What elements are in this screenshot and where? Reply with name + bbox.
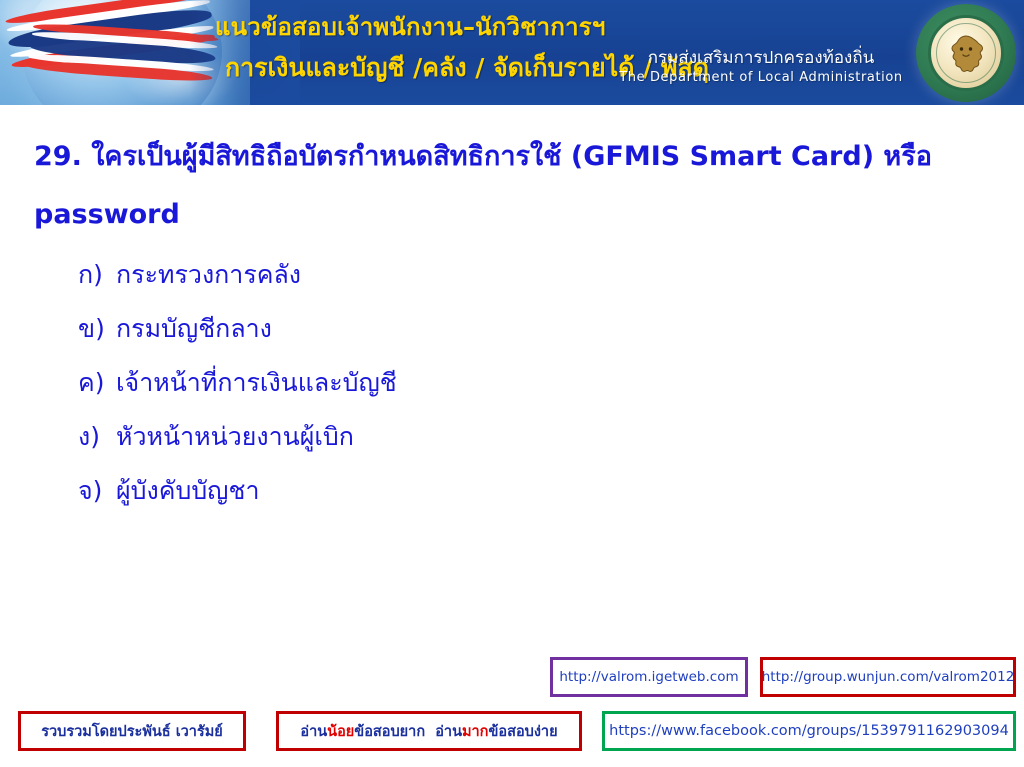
- choice-item-1[interactable]: ก)กระทรวงการคลัง: [78, 248, 878, 302]
- banner-title-line1: แนวข้อสอบเจ้าพนักงาน–นักวิชาการฯ: [215, 10, 905, 44]
- choice-item-5[interactable]: จ)ผู้บังคับบัญชา: [78, 464, 878, 518]
- header-banner: แนวข้อสอบเจ้าพนักงาน–นักวิชาการฯ การเงิน…: [0, 0, 1024, 105]
- choice-label-4: หัวหน้าหน่วยงานผู้เบิก: [116, 422, 354, 451]
- author-credit-box: รวบรวมโดยประพันธ์ เวารัมย์: [18, 711, 246, 751]
- choice-label-1: กระทรวงการคลัง: [116, 260, 301, 289]
- department-name-group: กรมส่งเสริมการปกครองท้องถิ่น The Departm…: [616, 48, 906, 86]
- department-name-thai: กรมส่งเสริมการปกครองท้องถิ่น: [616, 48, 906, 69]
- choice-letter-3: ค): [78, 356, 116, 410]
- motto-part-3: ข้อสอบยาก: [354, 720, 425, 743]
- wunjun-link-box[interactable]: http://group.wunjun.com/valrom2012: [760, 657, 1016, 697]
- choice-letter-4: ง): [78, 410, 116, 464]
- choice-label-5: ผู้บังคับบัญชา: [116, 476, 260, 505]
- choice-item-4[interactable]: ง)หัวหน้าหน่วยงานผู้เบิก: [78, 410, 878, 464]
- motto-box: อ่านน้อยข้อสอบยาก อ่านมากข้อสอบง่าย: [276, 711, 582, 751]
- choice-letter-1: ก): [78, 248, 116, 302]
- emblem-inner-disc: [928, 15, 1004, 91]
- dla-seal-emblem-icon: [916, 4, 1016, 102]
- choice-item-2[interactable]: ข)กรมบัญชีกลาง: [78, 302, 878, 356]
- choice-letter-5: จ): [78, 464, 116, 518]
- choice-list: ก)กระทรวงการคลัง ข)กรมบัญชีกลาง ค)เจ้าหน…: [78, 248, 878, 518]
- choice-letter-2: ข): [78, 302, 116, 356]
- motto-part-6: ข้อสอบง่าย: [488, 720, 557, 743]
- question-text: 29. ใครเป็นผู้มีสิทธิถือบัตรกำหนดสิทธิกา…: [34, 128, 986, 244]
- wunjun-link-text: http://group.wunjun.com/valrom2012: [762, 669, 1015, 685]
- author-credit-text: รวบรวมโดยประพันธ์ เวารัมย์: [41, 720, 223, 743]
- motto-part-1: อ่าน: [300, 720, 327, 743]
- choice-label-3: เจ้าหน้าที่การเงินและบัญชี: [116, 368, 397, 397]
- motto-part-2: น้อย: [327, 720, 354, 743]
- emblem-ring: [936, 23, 996, 83]
- igetweb-link-box[interactable]: http://valrom.igetweb.com: [550, 657, 748, 697]
- igetweb-link-text: http://valrom.igetweb.com: [559, 669, 738, 685]
- choice-label-2: กรมบัญชีกลาง: [116, 314, 272, 343]
- department-name-english: The Department of Local Administration: [616, 69, 906, 86]
- facebook-link-text: https://www.facebook.com/groups/15397911…: [609, 723, 1009, 739]
- facebook-link-box[interactable]: https://www.facebook.com/groups/15397911…: [602, 711, 1016, 751]
- motto-part-4: อ่าน: [435, 720, 462, 743]
- motto-part-5: มาก: [462, 720, 488, 743]
- choice-item-3[interactable]: ค)เจ้าหน้าที่การเงินและบัญชี: [78, 356, 878, 410]
